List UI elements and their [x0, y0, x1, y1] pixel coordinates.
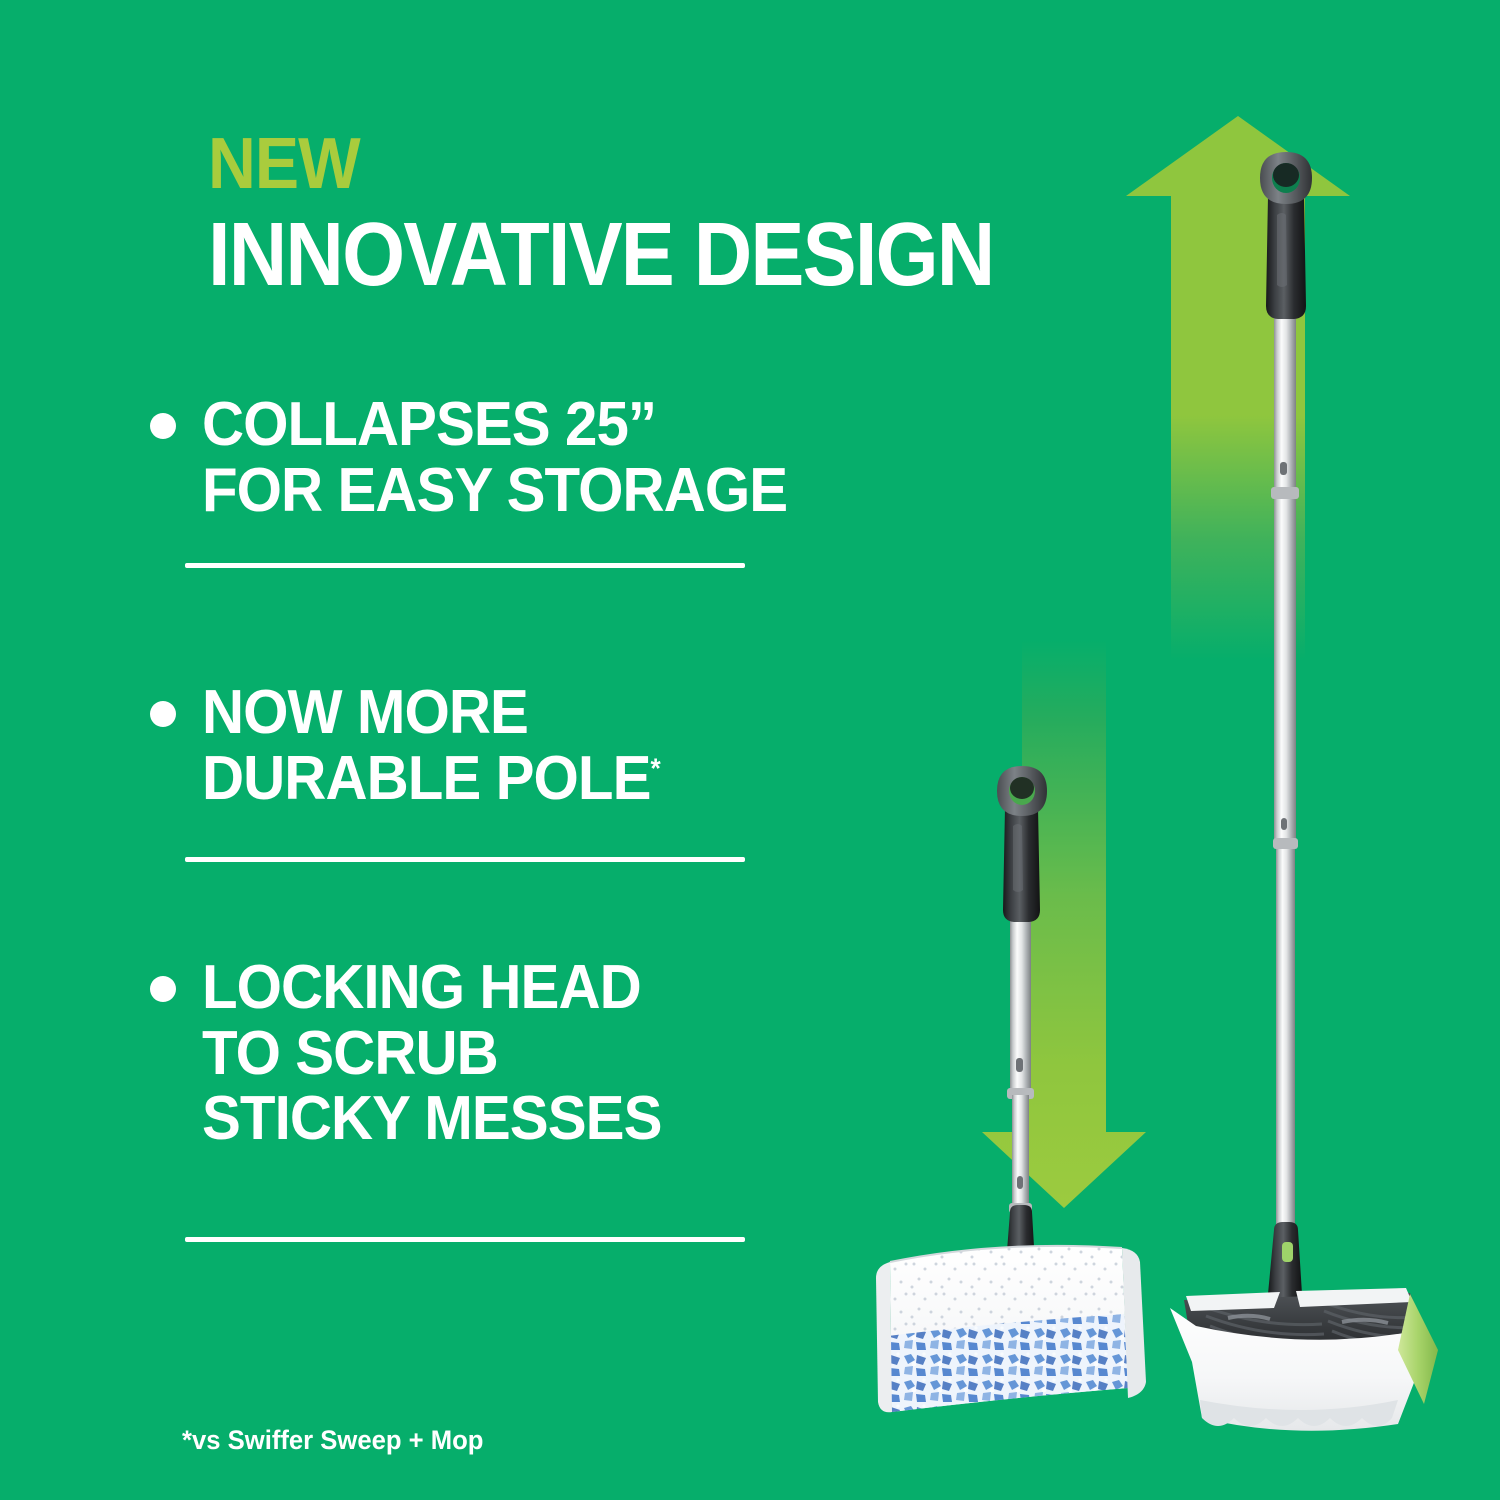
bullet-text: LOCKING HEAD TO SCRUB STICKY MESSES [202, 955, 850, 1152]
bullet-line-text: DURABLE POLE [202, 744, 651, 813]
product-imagery [850, 0, 1500, 1500]
divider [185, 1237, 745, 1242]
bullet-dot-icon [150, 413, 176, 439]
bullet-dot-icon [150, 701, 176, 727]
product-illustration [850, 0, 1500, 1500]
down-arrow-icon [982, 640, 1146, 1208]
bullet-dot-icon [150, 976, 176, 1002]
bullet-line: COLLAPSES 25” [202, 392, 811, 458]
footnote: *vs Swiffer Sweep + Mop [182, 1425, 483, 1456]
divider [185, 857, 745, 862]
bullet-line: DURABLE POLE* [202, 746, 811, 812]
list-item: LOCKING HEAD TO SCRUB STICKY MESSES [150, 955, 850, 1152]
product-feature-graphic: NEW INNOVATIVE DESIGN COLLAPSES 25” FOR … [0, 0, 1500, 1500]
bullet-line: NOW MORE [202, 680, 811, 746]
divider [185, 563, 745, 568]
bullet-text: NOW MORE DURABLE POLE* [202, 680, 850, 811]
list-item: NOW MORE DURABLE POLE* [150, 680, 850, 811]
footnote-marker: * [651, 752, 660, 783]
hang-hole-icon [997, 766, 1047, 816]
bullet-line: FOR EASY STORAGE [202, 458, 811, 524]
list-item: COLLAPSES 25” FOR EASY STORAGE [150, 392, 850, 523]
bullet-line: STICKY MESSES [202, 1086, 811, 1152]
text-column: NEW INNOVATIVE DESIGN COLLAPSES 25” FOR … [0, 0, 900, 1500]
bullet-line: TO SCRUB [202, 1021, 811, 1087]
bullet-text: COLLAPSES 25” FOR EASY STORAGE [202, 392, 850, 523]
up-arrow-icon [1126, 116, 1350, 660]
eyebrow-new: NEW [208, 128, 360, 200]
bullet-line: LOCKING HEAD [202, 955, 811, 1021]
hang-hole-icon [1260, 152, 1312, 204]
